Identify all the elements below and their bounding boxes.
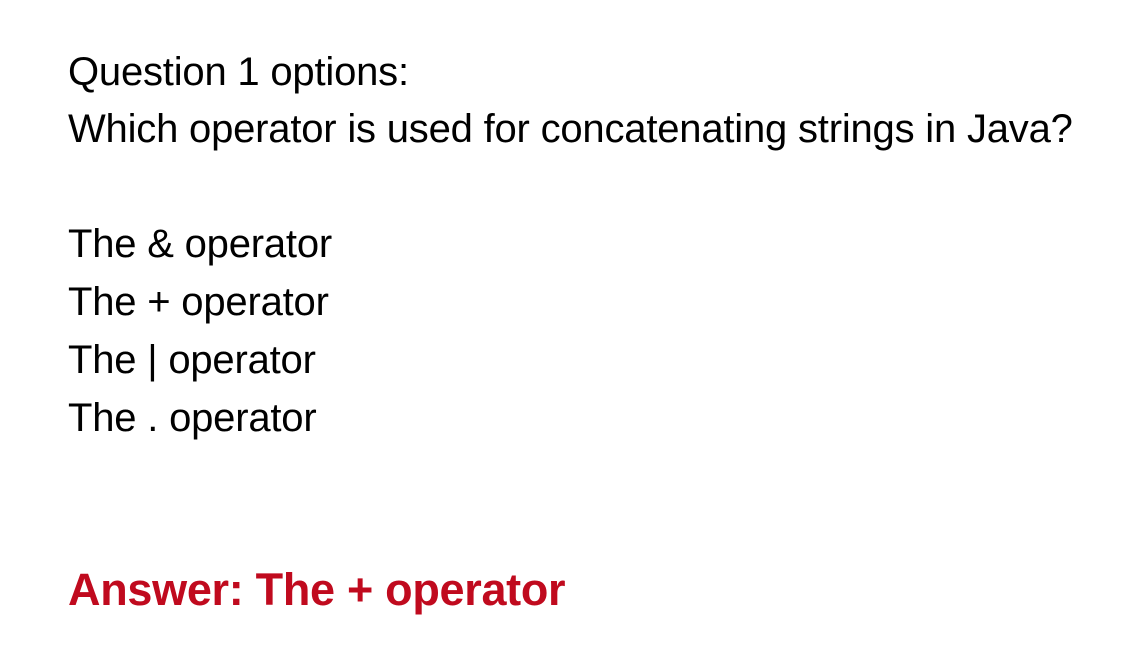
option-item-1[interactable]: The & operator — [68, 215, 1114, 273]
option-item-4[interactable]: The . operator — [68, 389, 1114, 447]
spacer-after-options — [68, 447, 1114, 504]
question-text: Which operator is used for concatenating… — [68, 101, 1114, 158]
answer-text: Answer: The + operator — [68, 561, 1114, 619]
option-item-2[interactable]: The + operator — [68, 273, 1114, 331]
slide-content: Question 1 options: Which operator is us… — [68, 44, 1114, 619]
answer-options-list: The & operator The + operator The | oper… — [68, 215, 1114, 447]
spacer-before-answer — [68, 504, 1114, 561]
option-item-3[interactable]: The | operator — [68, 331, 1114, 389]
question-block: Question 1 options: Which operator is us… — [68, 44, 1114, 158]
spacer-after-question — [68, 158, 1114, 215]
question-options-heading: Question 1 options: — [68, 44, 1114, 101]
quiz-slide: Question 1 options: Which operator is us… — [0, 0, 1134, 670]
